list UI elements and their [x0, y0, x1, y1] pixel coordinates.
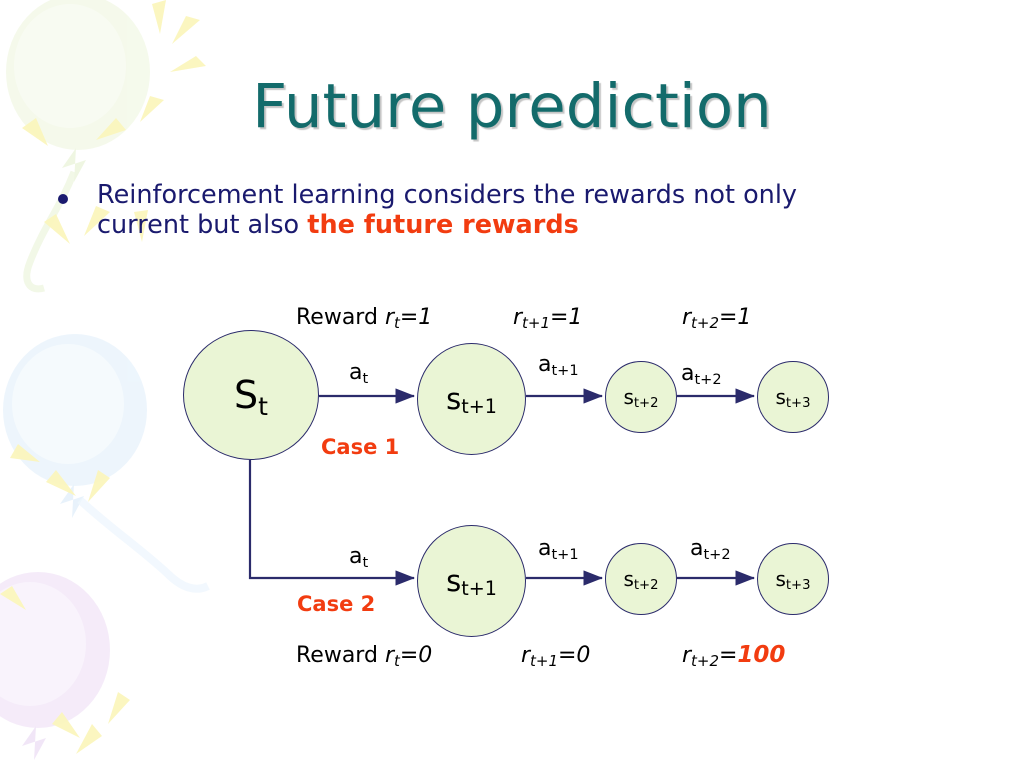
action-label-case2-t1: at+1	[538, 538, 579, 560]
reward-sym-case1-t: rt=1	[385, 305, 432, 330]
reward-sym-case2-t1: rt+1=0	[521, 643, 590, 668]
reward-label-case2-t2: rt+2=100	[682, 644, 785, 667]
edge-branch-case2	[250, 460, 414, 578]
slide-canvas: Future prediction Reinforcement learning…	[0, 0, 1024, 768]
future-prediction-diagram: St st+1 st+2 st+3 st+1 st+2 st+3 Reward …	[0, 0, 1024, 768]
node-label-st2-case2: st+2	[623, 569, 658, 589]
reward-sym-case2-t2: rt+2=	[682, 643, 737, 668]
action-label-case1-t1: at+1	[538, 354, 579, 376]
node-label-st3-case1: st+3	[775, 387, 810, 407]
action-label-case1-t2: at+2	[681, 363, 722, 385]
action-label-case2-t: at	[349, 546, 368, 568]
reward-label-case2-t: Reward rt=0	[296, 645, 432, 667]
reward-word-case1: Reward	[296, 305, 378, 330]
reward-value-100: 100	[737, 642, 785, 668]
node-state-st1-case1[interactable]: st+1	[417, 343, 526, 455]
reward-sym-case2-t: rt=0	[385, 643, 432, 668]
node-state-st3-case2[interactable]: st+3	[757, 543, 829, 615]
node-state-st[interactable]: St	[183, 330, 319, 460]
reward-sym-case1-t2: rt+2=1	[682, 305, 751, 330]
case-label-1: Case 1	[321, 435, 399, 459]
action-label-case1-t: at	[349, 362, 368, 384]
node-state-st2-case2[interactable]: st+2	[605, 543, 677, 615]
node-state-st1-case2[interactable]: st+1	[417, 525, 526, 637]
node-label-st2-case1: st+2	[623, 387, 658, 407]
reward-label-case2-t1: rt+1=0	[521, 645, 590, 667]
node-label-st1-case1: st+1	[446, 385, 497, 414]
reward-label-case1-t1: rt+1=1	[513, 307, 582, 329]
reward-sym-case1-t1: rt+1=1	[513, 305, 582, 330]
reward-label-case1-t2: rt+2=1	[682, 307, 751, 329]
node-label-st3-case2: st+3	[775, 569, 810, 589]
node-label-st1-case2: st+1	[446, 567, 497, 596]
case-label-2: Case 2	[297, 592, 375, 616]
reward-word-case2: Reward	[296, 643, 378, 668]
node-state-st3-case1[interactable]: st+3	[757, 361, 829, 433]
reward-label-case1-t: Reward rt=1	[296, 307, 432, 329]
node-label-st: St	[234, 376, 268, 414]
node-state-st2-case1[interactable]: st+2	[605, 361, 677, 433]
action-label-case2-t2: at+2	[690, 538, 731, 560]
